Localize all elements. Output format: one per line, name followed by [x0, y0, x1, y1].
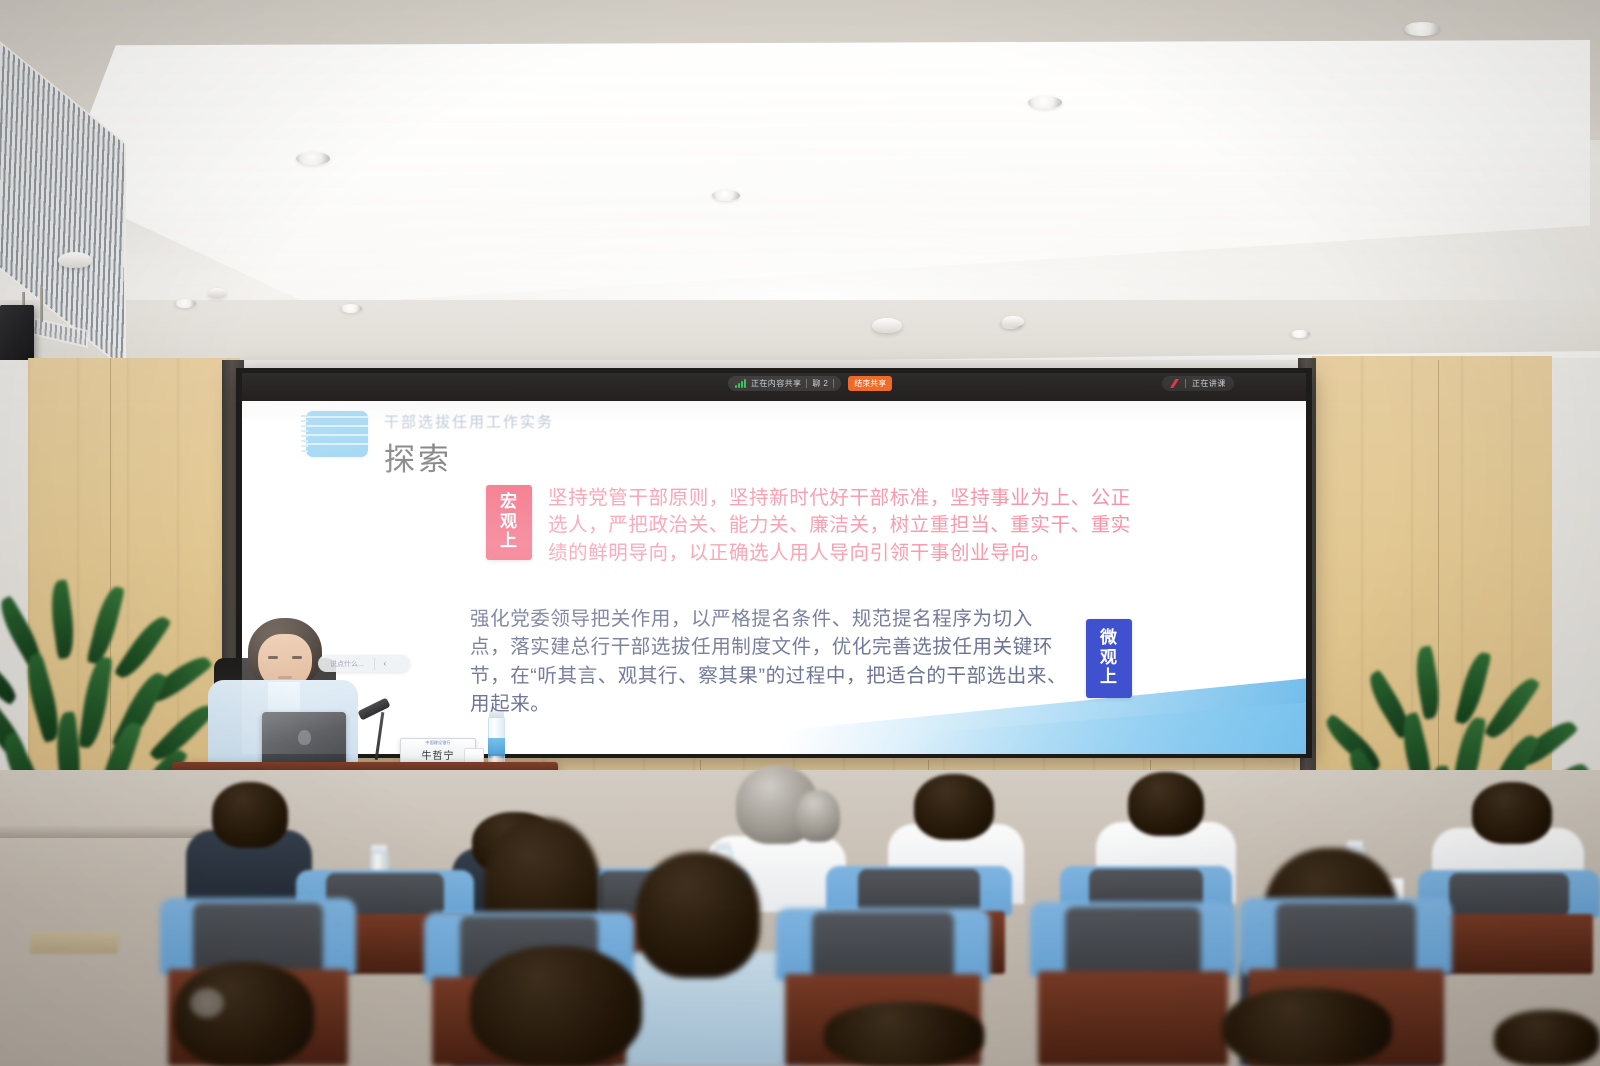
- plant-foliage: [0, 560, 210, 790]
- floor-panel: [30, 932, 118, 954]
- downlight-icon: [296, 152, 330, 165]
- micro-badge-char-1: 微: [1086, 628, 1132, 648]
- bottle-cap: [715, 841, 731, 850]
- presenter-mouth: [278, 676, 292, 679]
- divider: [1185, 379, 1186, 388]
- laptop-icon: [262, 712, 346, 764]
- audience-head: [824, 1002, 984, 1066]
- sharing-status-pill: 正在内容共享 聊 2: [728, 376, 841, 391]
- audience-head: [470, 946, 642, 1066]
- audience-head: [914, 774, 994, 840]
- micro-badge-char-3: 上: [1086, 667, 1132, 687]
- live-status-label: 正在讲课: [1192, 378, 1226, 389]
- audience-head: [1472, 782, 1552, 844]
- notebook-icon: [306, 411, 368, 457]
- sharing-status-bar: 正在内容共享 聊 2 结束共享: [728, 376, 892, 391]
- audience-head: [796, 790, 840, 842]
- macro-badge-char-3: 上: [486, 531, 532, 551]
- smoke-detector-icon: [872, 318, 902, 333]
- audience-head: [636, 852, 760, 978]
- downlight-icon: [1404, 22, 1440, 36]
- macro-badge-char-1: 宏: [486, 492, 532, 512]
- sharing-status-label: 正在内容共享: [751, 378, 801, 389]
- divider: [833, 379, 834, 388]
- nameplate-org: 中国建设银行: [425, 740, 450, 746]
- macro-badge-char-2: 观: [486, 512, 532, 532]
- nameplate-name: 牛哲宁: [422, 747, 455, 762]
- audience-head: [1128, 772, 1204, 836]
- slide-header: 干部选拔任用工作实务 探索: [306, 411, 554, 479]
- downlight-icon: [174, 299, 196, 308]
- downlight-icon: [340, 304, 362, 313]
- downlight-icon: [712, 190, 740, 201]
- macro-block: 宏 观 上 坚持党管干部原则，坚持新时代好干部标准，坚持事业为上、公正选人，严把…: [486, 485, 1138, 567]
- participant-count-label: 聊 2: [812, 378, 828, 389]
- smoke-detector-icon: [58, 252, 92, 268]
- micro-badge: 微 观 上: [1086, 619, 1132, 698]
- audience-head: [1222, 988, 1392, 1066]
- audience-head: [212, 782, 288, 848]
- signal-bars-icon: [735, 379, 746, 388]
- presenter-eye: [292, 656, 302, 659]
- live-broadcast-icon: [1170, 379, 1179, 388]
- live-status-bar: 正在讲课: [1162, 376, 1234, 391]
- divider: [806, 379, 807, 388]
- share-icon[interactable]: ‹: [375, 659, 395, 668]
- micro-badge-char-2: 观: [1086, 648, 1132, 668]
- slide-title: 探索: [384, 434, 554, 479]
- conference-room-photo: 正在内容共享 聊 2 结束共享 正在讲课 干部选拔任用工作实务 探索: [0, 0, 1600, 1066]
- hair-clip: [190, 988, 224, 1018]
- smoke-detector-icon: [208, 288, 226, 297]
- chat-input-placeholder[interactable]: 说点什么...: [318, 659, 374, 669]
- chat-input-bar[interactable]: 说点什么... ‹: [318, 655, 410, 672]
- cove-glow: [20, 150, 1600, 300]
- downlight-icon: [1028, 96, 1062, 109]
- auditorium-seat[interactable]: [1030, 902, 1236, 1066]
- speaker-mount: [40, 288, 43, 322]
- slide-kicker: 干部选拔任用工作实务: [384, 411, 554, 432]
- stop-sharing-button[interactable]: 结束共享: [848, 376, 892, 391]
- presenter-eye: [268, 656, 278, 659]
- led-video-wall: 正在内容共享 聊 2 结束共享 正在讲课 干部选拔任用工作实务 探索: [236, 368, 1312, 758]
- micro-block: 微 观 上 强化党委领导把关作用，以严格提名条件、规范提名程序为切入点，落实建总…: [470, 605, 1132, 718]
- macro-badge: 宏 观 上: [486, 485, 532, 560]
- bottle-cap: [371, 845, 387, 854]
- audience-head: [1494, 1010, 1600, 1066]
- smoke-detector-icon: [1002, 316, 1024, 327]
- micro-text: 强化党委领导把关作用，以严格提名条件、规范提名程序为切入点，落实建总行干部选拔任…: [470, 605, 1070, 718]
- downlight-icon: [1290, 330, 1310, 338]
- laptop-logo-icon: [298, 730, 311, 745]
- macro-text: 坚持党管干部原则，坚持新时代好干部标准，坚持事业为上、公正选人，严把政治关、能力…: [548, 485, 1138, 567]
- presentation-slide: 正在内容共享 聊 2 结束共享 正在讲课 干部选拔任用工作实务 探索: [242, 373, 1306, 754]
- bottle-label: [488, 738, 505, 756]
